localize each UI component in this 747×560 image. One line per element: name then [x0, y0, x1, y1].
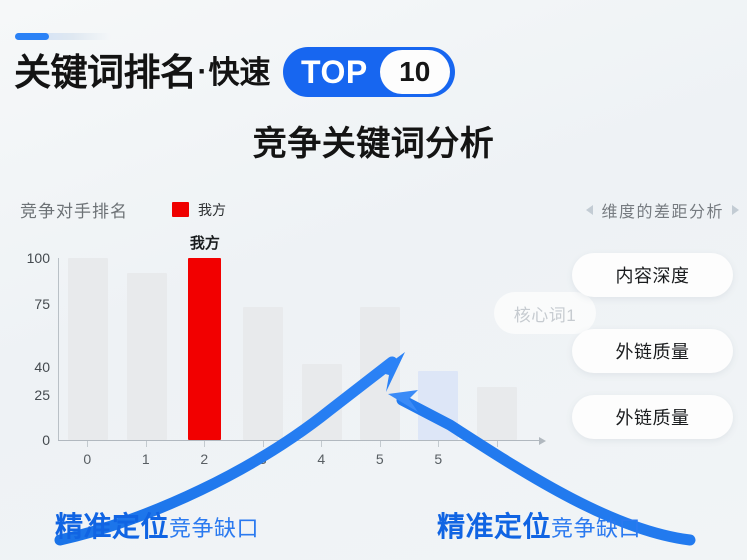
- y-axis-tick-label: 40: [14, 359, 50, 375]
- top-badge-number-circle: 10: [380, 50, 450, 94]
- x-axis-tick-label: 2: [175, 451, 234, 467]
- caption-left-light: 竞争缺口: [169, 511, 259, 543]
- triangle-right-icon: [732, 205, 739, 215]
- top-rank-badge: TOP 10: [283, 47, 455, 97]
- x-axis-tick-label: 1: [117, 451, 176, 467]
- chart-bar-cell[interactable]: [117, 258, 175, 440]
- chart-bar: [302, 364, 342, 440]
- headline-main-text: 关键词排名: [14, 54, 197, 91]
- right-panel-header: 维度的差距分析: [586, 198, 739, 222]
- x-axis-tick: [234, 441, 293, 448]
- dimension-pill-2[interactable]: 外链质量: [572, 395, 733, 439]
- chart-legend-row: 竞争对手排名 我方: [20, 197, 226, 222]
- caption-right: 精准定位 竞争缺口: [437, 505, 641, 545]
- top-badge-number: 10: [399, 58, 430, 86]
- top-badge-label: TOP: [301, 56, 368, 88]
- chart-bar-cell[interactable]: [293, 258, 351, 440]
- x-axis-tick: [468, 441, 527, 448]
- chart-bars: 我方: [59, 258, 526, 440]
- caption-right-light: 竞争缺口: [551, 511, 641, 543]
- dimension-pill-1[interactable]: 外链质量: [572, 329, 733, 373]
- legend-swatch-icon: [172, 202, 189, 217]
- x-axis-ticks: [58, 441, 526, 448]
- headline-sub-text: 快速: [209, 57, 271, 88]
- chart-bar-cell[interactable]: [351, 258, 409, 440]
- headline-separator-dot: ·: [198, 55, 208, 89]
- x-axis-tick: [351, 441, 410, 448]
- x-axis-tick: [292, 441, 351, 448]
- x-axis-tick: [409, 441, 468, 448]
- x-axis-tick: [175, 441, 234, 448]
- y-axis-tick-label: 0: [14, 432, 50, 448]
- dimension-pill-0[interactable]: 内容深度: [572, 253, 733, 297]
- progress-bar-track: [15, 33, 111, 40]
- y-axis-tick-label: 100: [14, 250, 50, 266]
- y-axis-tick-label: 25: [14, 387, 50, 403]
- legend-item-label: 我方: [198, 200, 226, 220]
- progress-bar-fill: [15, 33, 49, 40]
- headline: 关键词排名 · 快速: [14, 44, 271, 100]
- ghost-keyword-pill[interactable]: 核心词1: [494, 292, 596, 334]
- y-axis-tick-label: 75: [14, 296, 50, 312]
- chart-bar: [360, 307, 400, 440]
- x-axis-labels: 0123455: [58, 451, 526, 467]
- caption-left-strong: 精准定位: [55, 505, 169, 545]
- caption-left: 精准定位 竞争缺口: [55, 505, 259, 545]
- x-axis-tick-label: 0: [58, 451, 117, 467]
- chart-axis-title: 竞争对手排名: [20, 197, 128, 222]
- x-axis-tick: [117, 441, 176, 448]
- chart-bar: [127, 273, 167, 440]
- x-axis-tick-label: 5: [409, 451, 468, 467]
- chart-bar: [188, 258, 221, 440]
- triangle-left-icon: [586, 205, 593, 215]
- highlight-bar-label: 我方: [190, 232, 220, 253]
- right-panel-title: 维度的差距分析: [601, 198, 724, 222]
- chart-plot-area: 我方: [58, 258, 526, 440]
- x-axis-tick-label: 5: [351, 451, 410, 467]
- x-axis-tick-label: 4: [292, 451, 351, 467]
- chart-bar-cell[interactable]: [409, 258, 467, 440]
- chart-bar: [477, 387, 517, 440]
- chart-bar: [418, 371, 458, 440]
- bar-chart: 1007540250 我方 0123455: [14, 248, 534, 466]
- y-axis-labels: 1007540250: [14, 248, 50, 440]
- legend-item-us: 我方: [172, 200, 226, 220]
- page-title: 竞争关键词分析: [0, 116, 747, 165]
- chart-bar-cell[interactable]: [59, 258, 117, 440]
- chart-bar-cell[interactable]: 我方: [176, 258, 234, 440]
- chart-bar-cell[interactable]: [234, 258, 292, 440]
- slide-canvas: 关键词排名 · 快速 TOP 10 竞争关键词分析 竞争对手排名 我方 维度的差…: [0, 0, 747, 560]
- chart-bar: [243, 307, 283, 440]
- chart-bar-cell[interactable]: [468, 258, 526, 440]
- x-axis-tick-label: 3: [234, 451, 293, 467]
- caption-right-strong: 精准定位: [437, 505, 551, 545]
- x-axis-tick-label: [468, 451, 527, 467]
- x-axis-tick: [58, 441, 117, 448]
- chart-bar: [68, 258, 108, 440]
